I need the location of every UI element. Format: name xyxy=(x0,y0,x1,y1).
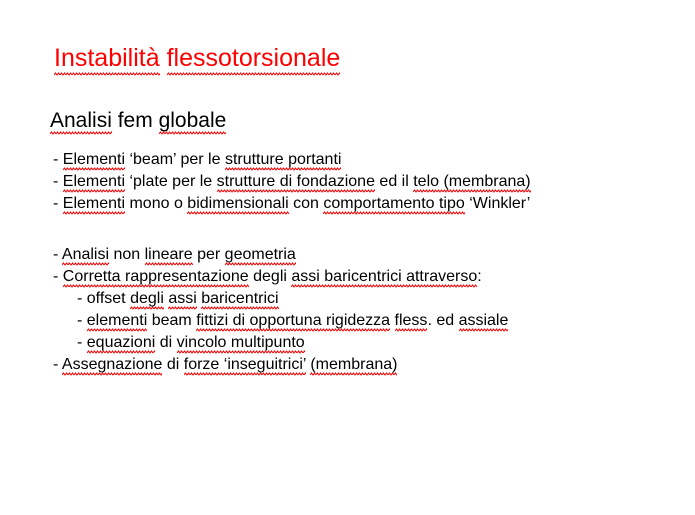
title-misspelled-run: flessotorsionale xyxy=(167,44,341,76)
analysis-item-misspelled-run: equazioni xyxy=(87,334,156,354)
structural-item-text-run: ed il xyxy=(375,173,413,190)
analysis-item-misspelled-run: Assegnazione xyxy=(62,356,163,376)
structural-item-text-run: ‘plate per le xyxy=(125,173,217,190)
bullet-dash: - xyxy=(77,290,87,307)
analysis-item-text-run: : xyxy=(477,268,481,285)
title-text-run xyxy=(160,44,167,72)
page-title: Instabilità flessotorsionale xyxy=(54,43,340,73)
structural-item: - Elementi mono o bidimensionali con com… xyxy=(50,193,531,215)
structural-item-misspelled-run: Elementi xyxy=(63,195,125,215)
subtitle-text-run: fem xyxy=(112,109,159,132)
slide-canvas: Instabilità flessotorsionale Analisi fem… xyxy=(0,0,695,515)
subtitle-misspelled-run: Analisi xyxy=(50,109,112,135)
analysis-item: - Assegnazione di forze ‘inseguitrici’ (… xyxy=(50,354,508,376)
structural-item-misspelled-run: strutture portanti xyxy=(225,151,342,171)
bullet-dash: - xyxy=(77,334,87,351)
bullet-dash: - xyxy=(53,356,62,373)
analysis-item-misspelled-run: forze ‘inseguitrici’ xyxy=(184,356,306,376)
structural-item-misspelled-run: Elementi xyxy=(63,151,125,171)
analysis-item-misspelled-run: geometria xyxy=(225,246,296,266)
analysis-item-misspelled-run: baricentrici xyxy=(201,290,278,310)
analysis-item-text-run: di xyxy=(162,356,183,373)
analysis-item-text-run: degli xyxy=(249,268,292,285)
analysis-item-misspelled-run: assi baricentrici attraverso xyxy=(291,268,477,288)
structural-item-misspelled-run: Elementi xyxy=(63,173,125,193)
analysis-item: - Analisi non lineare per geometria xyxy=(50,244,508,266)
analysis-item-misspelled-run: assi xyxy=(168,290,196,310)
structural-item-text-run: mono o xyxy=(125,195,187,212)
structural-item-text-run: ‘beam’ per le xyxy=(125,151,225,168)
bullet-dash: - xyxy=(53,151,63,168)
analysis-item-text-run: per xyxy=(193,246,225,263)
structural-item-misspelled-run: comportamento tipo xyxy=(323,195,464,215)
analysis-item-text-run: non xyxy=(109,246,145,263)
analysis-item-misspelled-run: Corretta rappresentazione xyxy=(63,268,249,288)
analysis-item: - offset degli assi baricentrici xyxy=(50,288,508,310)
bullet-dash: - xyxy=(53,268,63,285)
analysis-item-misspelled-run: fless xyxy=(395,312,428,332)
structural-elements-list: - Elementi ‘beam’ per le strutture porta… xyxy=(50,149,531,215)
analysis-item-misspelled-run: lineare xyxy=(145,246,193,266)
title-misspelled-run: Instabilità xyxy=(54,44,160,76)
analysis-item: - equazioni di vincolo multipunto xyxy=(50,332,508,354)
analysis-item-misspelled-run: vincolo multipunto xyxy=(177,334,305,354)
structural-item-text-run: ‘Winkler’ xyxy=(465,195,530,212)
bullet-dash: - xyxy=(53,246,62,263)
analysis-item-misspelled-run: fittizi di opportuna rigidezza xyxy=(196,312,390,332)
analysis-item-misspelled-run: assiale xyxy=(459,312,509,332)
analysis-item: - elementi beam fittizi di opportuna rig… xyxy=(50,310,508,332)
subtitle-misspelled-run: globale xyxy=(159,109,227,135)
bullet-dash: - xyxy=(53,195,63,212)
section-heading: Analisi fem globale xyxy=(50,108,226,134)
structural-item: - Elementi ‘plate per le strutture di fo… xyxy=(50,171,531,193)
analysis-item-text-run: offset xyxy=(87,290,130,307)
analysis-item-misspelled-run: degli xyxy=(130,290,164,310)
analysis-item-text-run: beam xyxy=(147,312,196,329)
bullet-dash: - xyxy=(53,173,63,190)
analysis-item-text-run: di xyxy=(155,334,176,351)
analysis-item-misspelled-run: elementi xyxy=(87,312,147,332)
bullet-dash: - xyxy=(77,312,87,329)
structural-item-text-run: con xyxy=(289,195,324,212)
analysis-item-text-run xyxy=(390,312,394,329)
analysis-item-misspelled-run: (membrana) xyxy=(310,356,397,376)
analysis-item-misspelled-run: Analisi xyxy=(62,246,109,266)
analysis-requirements-list: - Analisi non lineare per geometria- Cor… xyxy=(50,244,508,376)
analysis-item-text-run: . ed xyxy=(427,312,458,329)
structural-item: - Elementi ‘beam’ per le strutture porta… xyxy=(50,149,531,171)
structural-item-misspelled-run: telo (membrana) xyxy=(413,173,530,193)
analysis-item: - Corretta rappresentazione degli assi b… xyxy=(50,266,508,288)
structural-item-misspelled-run: bidimensionali xyxy=(187,195,288,215)
structural-item-misspelled-run: strutture di fondazione xyxy=(217,173,375,193)
